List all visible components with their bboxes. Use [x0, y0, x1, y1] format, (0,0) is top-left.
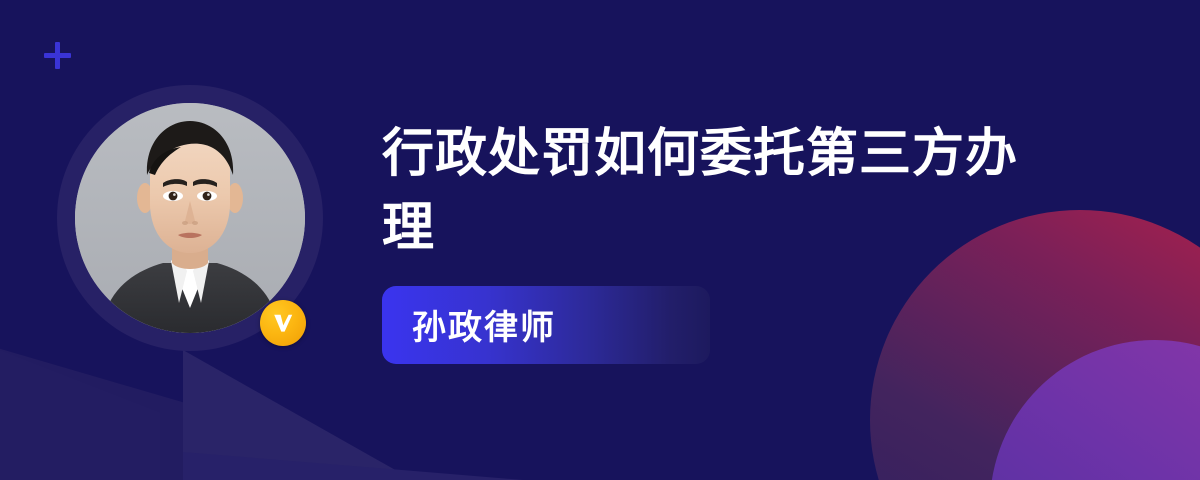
lawyer-profile-banner: 行政处罚如何委托第三方办理 孙政律师: [0, 0, 1200, 480]
content-block: 行政处罚如何委托第三方办理 孙政律师: [382, 118, 1102, 364]
polygon-triangle-secondary-decoration: [183, 410, 523, 480]
polygon-left-secondary-decoration: [0, 350, 160, 480]
verified-badge-icon: [260, 300, 306, 346]
page-title: 行政处罚如何委托第三方办理: [382, 118, 1022, 266]
avatar[interactable]: [57, 85, 323, 351]
polygon-triangle-decoration: [183, 350, 413, 480]
avatar-photo: [75, 103, 305, 333]
plus-icon: [44, 42, 71, 69]
lawyer-name-button[interactable]: 孙政律师: [382, 286, 710, 364]
